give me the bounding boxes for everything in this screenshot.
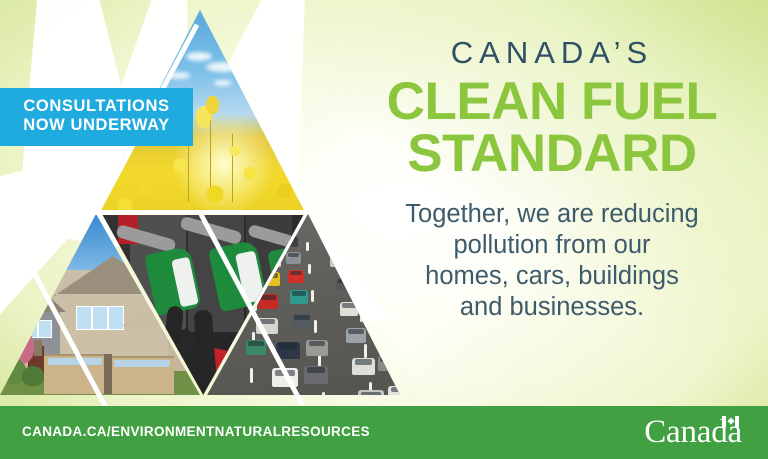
footer-url[interactable]: CANADA.CA/ENVIRONMENTNATURALRESOURCES — [22, 424, 370, 439]
headline-line-2: STANDARD — [340, 128, 764, 180]
consultation-banner: CONSULTATIONS NOW UNDERWAY — [0, 88, 193, 146]
subcopy-line-1: Together, we are reducing — [340, 199, 764, 230]
poster-canvas: CONSULTATIONS NOW UNDERWAY CANADA’S CLEA… — [0, 0, 768, 459]
subcopy-line-4: and businesses. — [340, 292, 764, 323]
headline: CLEAN FUEL STANDARD — [340, 76, 764, 180]
subcopy-line-3: homes, cars, buildings — [340, 261, 764, 292]
subcopy-line-2: pollution from our — [340, 230, 764, 261]
canada-flag-icon — [722, 416, 739, 427]
canada-wordmark: Canada — [644, 413, 742, 451]
headline-line-1: CLEAN FUEL — [387, 72, 718, 131]
subcopy: Together, we are reducing pollution from… — [340, 199, 764, 323]
maple-leaf-icon — [727, 416, 735, 427]
copy-block: CANADA’S CLEAN FUEL STANDARD Together, w… — [340, 34, 764, 323]
banner-line-2: NOW UNDERWAY — [0, 116, 193, 135]
collage-divider — [94, 210, 306, 215]
eyebrow-text: CANADA’S — [340, 34, 764, 72]
banner-line-1: CONSULTATIONS — [0, 97, 193, 116]
footer-bar: CANADA.CA/ENVIRONMENTNATURALRESOURCES Ca… — [0, 406, 768, 459]
